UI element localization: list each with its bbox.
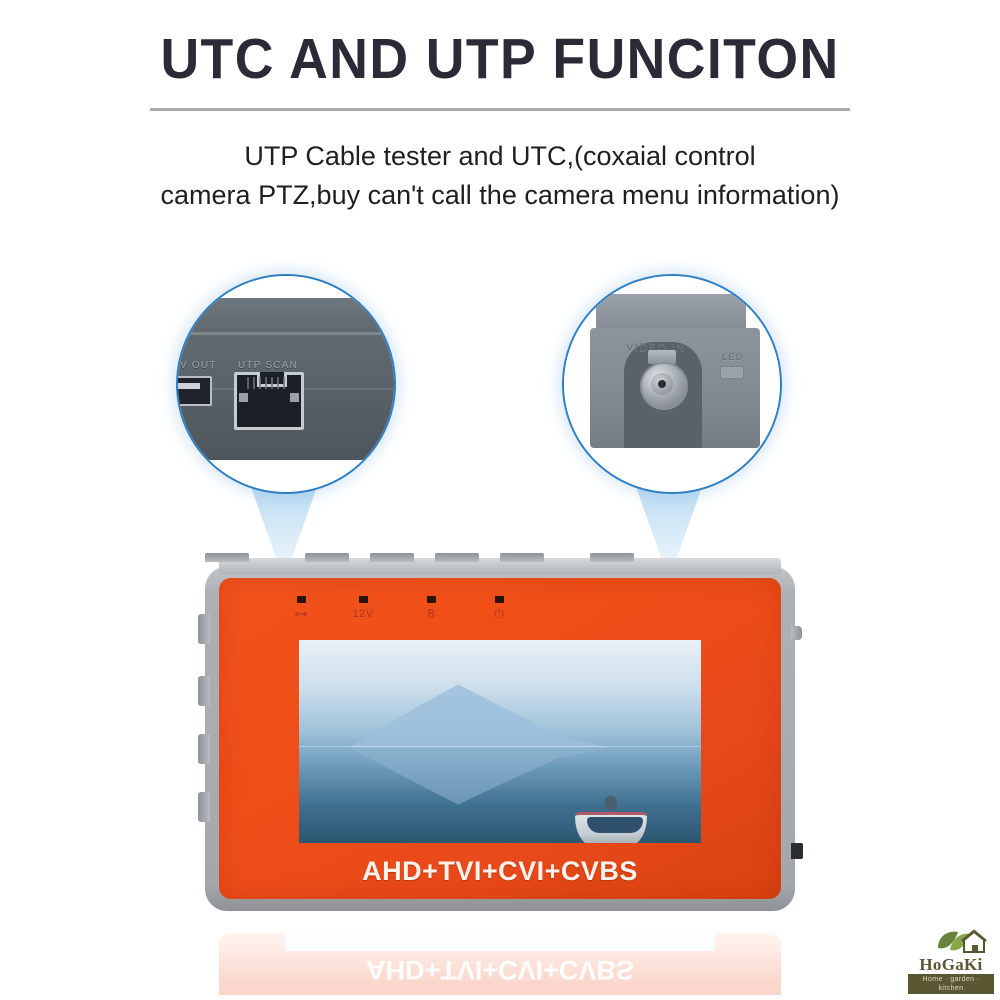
side-button-2[interactable] [198, 676, 210, 706]
page-title: UTC AND UTP FUNCITON [30, 0, 970, 90]
data-indicator-led [427, 596, 436, 603]
device-seam-left [178, 332, 394, 335]
watermark-tagline: Home · garden · kitchen [908, 974, 994, 994]
callout-right-photo: VIDEO IN LED [564, 276, 780, 492]
device-reflection-caption: AHD+TVI+CVI+CVBS [219, 954, 781, 985]
top-port-4[interactable] [205, 553, 249, 562]
device-reflection: AHD+TVI+CVI+CVBS [205, 915, 795, 995]
side-button-4[interactable] [198, 792, 210, 822]
port-label-5v-out: V OUT [180, 360, 217, 371]
port-label-led: LED [722, 352, 744, 362]
subtitle-line-1: UTP Cable tester and UTC,(coxaial contro… [90, 137, 910, 176]
watermark-brand-name: HoGaKi [908, 956, 994, 974]
power-indicator-glyph: ⏻ [479, 608, 519, 620]
cctv-tester-device: ⊶ 12V 8 ⏻ [205, 566, 795, 911]
twelve-volt-indicator-label: 12V [343, 608, 383, 620]
screen-boat [571, 800, 651, 843]
twelve-volt-indicator: 12V [343, 596, 383, 620]
rj45-pins [247, 377, 285, 389]
charge-indicator-led [297, 596, 306, 603]
watermark-logo: HoGaKi Home · garden · kitchen [908, 926, 994, 994]
power-indicator: ⏻ [479, 596, 519, 620]
side-button-1[interactable] [198, 614, 210, 644]
screen-boat-figure [605, 796, 617, 810]
twelve-volt-indicator-led [359, 596, 368, 603]
page-header: UTC AND UTP FUNCITON UTP Cable tester an… [0, 0, 1000, 215]
right-side-connector [791, 843, 803, 859]
indicator-row: ⊶ 12V 8 ⏻ [281, 596, 701, 630]
device-reflection-screen [285, 927, 715, 951]
device-top-shell-left [196, 298, 378, 334]
page-subtitle: UTP Cable tester and UTC,(coxaial contro… [90, 137, 910, 215]
bnc-inner-ring [651, 373, 673, 395]
bnc-center-pin [658, 380, 666, 388]
usb-port-icon [176, 376, 212, 406]
top-port-1[interactable] [305, 553, 349, 562]
bnc-connector-icon [640, 362, 688, 410]
charge-indicator-glyph: ⊶ [281, 608, 321, 620]
rj45-notch-right [290, 393, 299, 402]
screen-mountain [349, 678, 609, 748]
screen-mountain-reflection [349, 748, 609, 810]
led-button[interactable] [720, 366, 744, 379]
data-indicator: 8 [411, 596, 451, 620]
callout-left-photo: V OUT UTP SCAN [178, 276, 394, 492]
top-port-3[interactable] [435, 553, 479, 562]
side-button-3[interactable] [198, 734, 210, 764]
top-port-5[interactable] [590, 553, 634, 562]
title-divider [150, 108, 850, 111]
top-port-2[interactable] [370, 553, 414, 562]
device-caption: AHD+TVI+CVI+CVBS [219, 856, 781, 887]
screen-boat-interior [587, 817, 643, 833]
port-label-utp-scan: UTP SCAN [238, 360, 298, 371]
usb-contact-bar [176, 383, 200, 389]
device-screen [299, 640, 701, 843]
charge-indicator: ⊶ [281, 596, 321, 620]
subtitle-line-2: camera PTZ,buy can't call the camera men… [90, 176, 910, 215]
house-leaf-icon [908, 926, 994, 956]
top-port-4b[interactable] [500, 553, 544, 562]
device-bezel: ⊶ 12V 8 ⏻ [219, 578, 781, 899]
power-indicator-led [495, 596, 504, 603]
data-indicator-glyph: 8 [411, 608, 451, 620]
video-in-port-callout: VIDEO IN LED [562, 274, 782, 494]
screen-boat-hull [575, 812, 647, 843]
rj45-port-icon [234, 372, 304, 430]
utp-scan-port-callout: V OUT UTP SCAN [176, 274, 396, 494]
rj45-notch-left [239, 393, 248, 402]
screen-waterline [299, 746, 701, 747]
right-side-knob[interactable] [791, 626, 802, 640]
house-leaf-svg [908, 926, 994, 956]
